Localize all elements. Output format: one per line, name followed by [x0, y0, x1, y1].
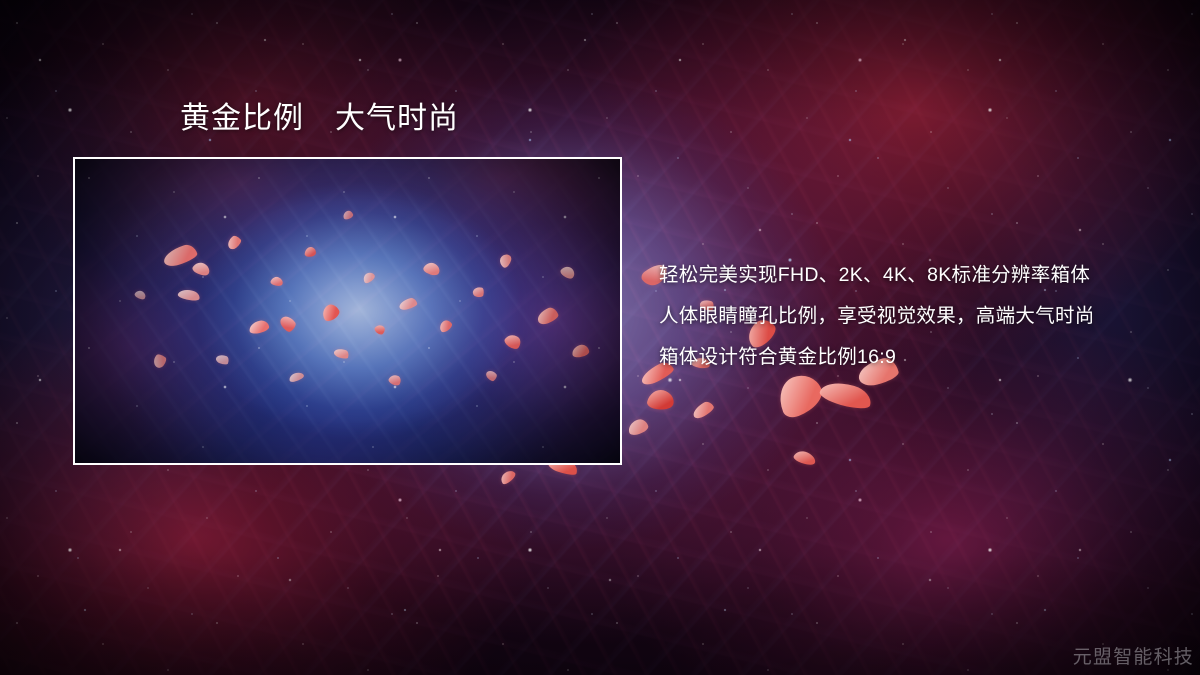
- body-line-1: 轻松完美实现FHD、2K、4K、8K标准分辨率箱体: [659, 255, 1179, 296]
- framed-image-content: [75, 159, 620, 463]
- background-petal: [818, 377, 874, 412]
- body-text-block: 轻松完美实现FHD、2K、4K、8K标准分辨率箱体 人体眼睛瞳孔比例，享受视觉效…: [659, 255, 1179, 378]
- framed-image-panel[interactable]: [73, 157, 622, 465]
- background-petal: [690, 399, 715, 420]
- watermark: 元盟智能科技: [1073, 642, 1194, 669]
- background-petal: [626, 417, 649, 436]
- page-title: 黄金比例 大气时尚: [180, 101, 459, 137]
- body-line-2: 人体眼睛瞳孔比例，享受视觉效果，高端大气时尚: [659, 296, 1179, 337]
- background-petal: [499, 469, 518, 486]
- background-petal: [793, 448, 818, 468]
- body-line-3: 箱体设计符合黄金比例16:9: [659, 337, 1179, 378]
- background-petal: [646, 387, 676, 413]
- presentation-slide: 黄金比例 大气时尚 轻松完美实现FHD、2K、4K、8K标准分辨率箱体 人体眼睛…: [0, 0, 1200, 675]
- inner-vignette: [75, 159, 620, 463]
